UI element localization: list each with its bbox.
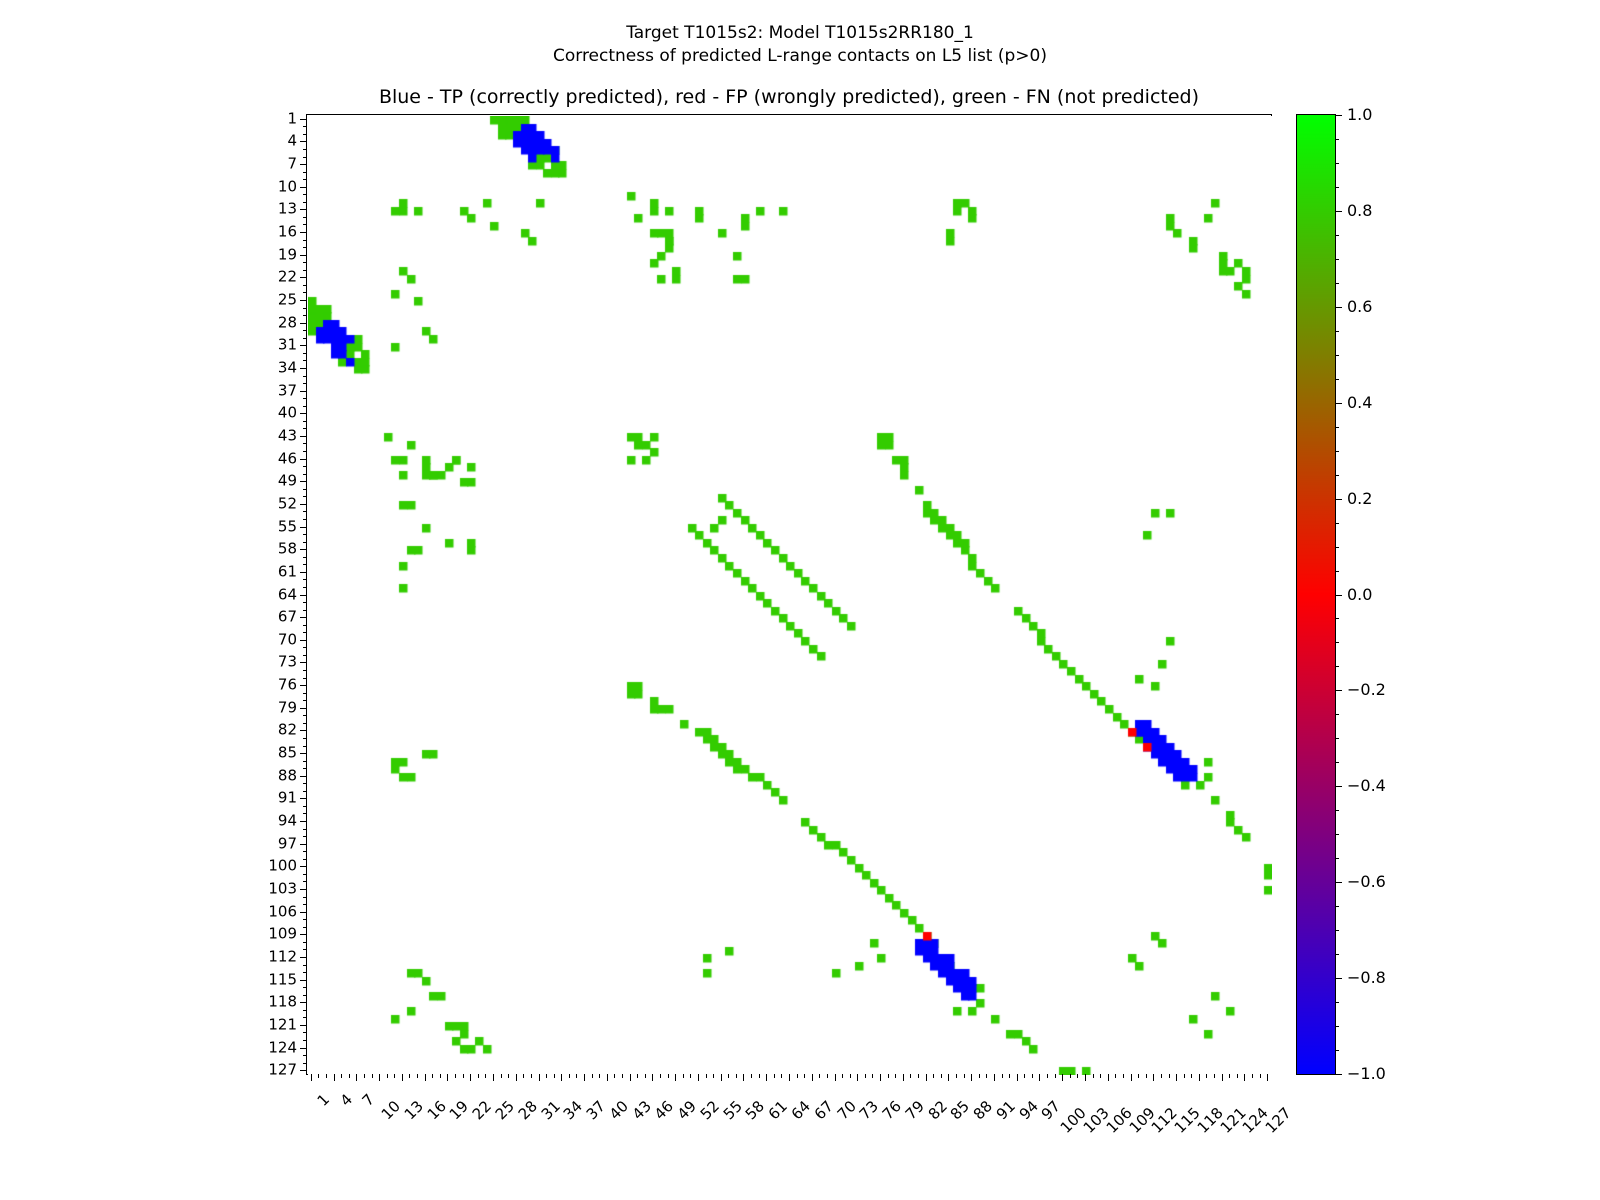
y-tick-label: 34 — [278, 360, 297, 375]
y-tick — [303, 859, 307, 860]
x-tick — [334, 1074, 335, 1081]
colorbar-tick-label: −1.0 — [1347, 1066, 1386, 1082]
y-tick — [303, 474, 307, 475]
y-tick-label: 64 — [278, 587, 297, 602]
y-tick-label: 88 — [278, 768, 297, 783]
y-tick — [303, 428, 307, 429]
x-tick — [372, 1074, 373, 1078]
y-tick-label: 16 — [278, 225, 297, 240]
y-tick — [303, 851, 307, 852]
x-tick — [1009, 1074, 1010, 1078]
x-tick — [569, 1074, 570, 1078]
colorbar-tick — [1335, 786, 1342, 787]
x-tick — [478, 1074, 479, 1078]
x-tick — [675, 1074, 676, 1081]
x-tick — [865, 1074, 866, 1078]
y-tick — [303, 647, 307, 648]
x-tick — [356, 1074, 357, 1081]
colorbar-tick — [1335, 690, 1342, 691]
y-tick — [300, 209, 307, 210]
x-tick — [660, 1074, 661, 1078]
x-tick-label: 79 — [903, 1099, 927, 1123]
y-tick — [303, 723, 307, 724]
y-tick — [303, 308, 307, 309]
y-tick-label: 127 — [268, 1063, 297, 1078]
y-tick — [303, 202, 307, 203]
x-tick — [630, 1074, 631, 1081]
colorbar-tick-label: 1.0 — [1347, 107, 1372, 123]
y-tick — [300, 753, 307, 754]
y-tick-label: 115 — [268, 972, 297, 987]
x-tick — [819, 1074, 820, 1078]
y-tick — [303, 126, 307, 127]
x-tick — [888, 1074, 889, 1078]
x-tick — [1191, 1074, 1192, 1078]
x-tick — [417, 1074, 418, 1078]
y-tick — [300, 1048, 307, 1049]
y-tick — [300, 798, 307, 799]
x-tick — [1024, 1074, 1025, 1078]
y-tick — [303, 542, 307, 543]
y-tick — [303, 655, 307, 656]
colorbar-tick-label: −0.8 — [1347, 970, 1386, 986]
y-tick — [303, 338, 307, 339]
x-tick — [409, 1074, 410, 1078]
x-tick — [1244, 1074, 1245, 1081]
x-tick — [698, 1074, 699, 1081]
y-tick — [303, 738, 307, 739]
colorbar-minor-tick — [1335, 523, 1339, 524]
x-tick — [797, 1074, 798, 1078]
x-tick — [850, 1074, 851, 1078]
x-tick — [645, 1074, 646, 1078]
colorbar-minor-tick — [1335, 834, 1339, 835]
y-tick — [300, 549, 307, 550]
colorbar-tick-label: −0.4 — [1347, 778, 1386, 794]
colorbar-minor-tick — [1335, 1026, 1339, 1027]
y-tick — [303, 149, 307, 150]
x-tick — [1206, 1074, 1207, 1078]
y-tick — [303, 376, 307, 377]
x-tick — [349, 1074, 350, 1078]
y-tick — [303, 874, 307, 875]
x-tick — [1169, 1074, 1170, 1078]
y-tick — [303, 564, 307, 565]
x-tick — [379, 1074, 380, 1081]
y-tick-label: 13 — [278, 202, 297, 217]
x-tick — [584, 1074, 585, 1081]
x-tick — [637, 1074, 638, 1078]
colorbar-tick — [1335, 882, 1342, 883]
y-tick — [300, 595, 307, 596]
x-tick — [1229, 1074, 1230, 1078]
x-tick — [1085, 1074, 1086, 1081]
y-tick — [303, 557, 307, 558]
x-tick — [994, 1074, 995, 1081]
colorbar[interactable]: 1.00.80.60.40.20.0−0.2−0.4−0.6−0.8−1.0 — [1296, 114, 1336, 1075]
colorbar-tick-label: 0.0 — [1347, 587, 1372, 603]
y-tick — [303, 904, 307, 905]
x-tick — [804, 1074, 805, 1078]
y-tick — [303, 240, 307, 241]
x-tick — [751, 1074, 752, 1078]
x-tick — [956, 1074, 957, 1078]
x-tick-label: 7 — [360, 1092, 377, 1109]
x-tick — [1252, 1074, 1253, 1078]
y-tick-label: 85 — [278, 746, 297, 761]
colorbar-minor-tick — [1335, 906, 1339, 907]
y-tick-label: 31 — [278, 338, 297, 353]
y-tick — [303, 610, 307, 611]
x-tick — [743, 1074, 744, 1081]
x-tick — [1108, 1074, 1109, 1081]
x-tick-label: 40 — [607, 1099, 631, 1123]
y-tick — [303, 360, 307, 361]
y-tick — [300, 459, 307, 460]
y-tick — [300, 1070, 307, 1071]
x-tick-label: 13 — [402, 1099, 426, 1123]
x-tick — [948, 1074, 949, 1081]
x-tick — [1017, 1074, 1018, 1081]
y-tick-label: 100 — [268, 859, 297, 874]
colorbar-minor-tick — [1335, 930, 1339, 931]
y-tick-label: 70 — [278, 632, 297, 647]
y-tick-label: 40 — [278, 406, 297, 421]
y-tick-label: 46 — [278, 451, 297, 466]
y-tick — [300, 232, 307, 233]
colorbar-minor-tick — [1335, 618, 1339, 619]
x-tick-label: 4 — [338, 1092, 355, 1109]
x-tick — [872, 1074, 873, 1078]
colorbar-minor-tick — [1335, 738, 1339, 739]
x-tick — [599, 1074, 600, 1078]
x-tick — [1070, 1074, 1071, 1078]
colorbar-minor-tick — [1335, 666, 1339, 667]
colorbar-tick — [1335, 595, 1342, 596]
y-tick — [303, 927, 307, 928]
x-tick — [387, 1074, 388, 1078]
x-tick — [1055, 1074, 1056, 1078]
y-tick — [300, 368, 307, 369]
y-tick — [303, 836, 307, 837]
x-tick — [1237, 1074, 1238, 1078]
y-tick-label: 58 — [278, 542, 297, 557]
y-tick — [300, 141, 307, 142]
y-tick — [303, 761, 307, 762]
x-tick-label: 91 — [994, 1099, 1018, 1123]
y-tick — [303, 625, 307, 626]
y-tick — [303, 829, 307, 830]
x-tick — [539, 1074, 540, 1081]
y-tick — [303, 315, 307, 316]
y-tick — [300, 527, 307, 528]
x-tick — [311, 1074, 312, 1081]
x-tick — [1123, 1074, 1124, 1078]
y-tick — [303, 949, 307, 950]
y-tick — [303, 693, 307, 694]
y-tick-label: 1 — [287, 111, 297, 126]
y-tick — [303, 511, 307, 512]
x-tick — [1138, 1074, 1139, 1078]
y-tick — [303, 972, 307, 973]
x-tick-label: 52 — [698, 1099, 722, 1123]
x-tick — [721, 1074, 722, 1081]
colorbar-minor-tick — [1335, 571, 1339, 572]
y-tick — [300, 934, 307, 935]
colorbar-tick-label: 0.6 — [1347, 299, 1372, 315]
y-tick — [303, 172, 307, 173]
x-tick — [933, 1074, 934, 1078]
y-tick — [303, 1017, 307, 1018]
y-tick — [300, 662, 307, 663]
x-tick — [508, 1074, 509, 1078]
y-tick — [303, 965, 307, 966]
x-tick — [759, 1074, 760, 1078]
y-tick — [303, 919, 307, 920]
y-tick-label: 55 — [278, 519, 297, 534]
colorbar-minor-tick — [1335, 283, 1339, 284]
y-tick-label: 67 — [278, 610, 297, 625]
y-tick-label: 52 — [278, 496, 297, 511]
x-tick-label: 127 — [1263, 1105, 1294, 1136]
y-tick — [303, 443, 307, 444]
y-tick-label: 10 — [278, 179, 297, 194]
x-tick — [979, 1074, 980, 1078]
y-tick — [303, 579, 307, 580]
x-tick — [425, 1074, 426, 1081]
x-tick — [364, 1074, 365, 1078]
y-tick-label: 79 — [278, 700, 297, 715]
y-tick-label: 124 — [268, 1040, 297, 1055]
x-tick-label: 64 — [789, 1099, 813, 1123]
x-tick — [326, 1074, 327, 1078]
x-tick — [652, 1074, 653, 1081]
y-tick — [300, 504, 307, 505]
y-tick — [300, 300, 307, 301]
contact-map-canvas[interactable] — [308, 116, 1272, 1075]
x-tick — [1032, 1074, 1033, 1078]
x-tick — [774, 1074, 775, 1078]
x-tick — [455, 1074, 456, 1078]
x-tick — [1222, 1074, 1223, 1081]
y-tick-label: 22 — [278, 270, 297, 285]
colorbar-minor-tick — [1335, 355, 1339, 356]
y-tick — [303, 715, 307, 716]
x-tick — [986, 1074, 987, 1078]
colorbar-tick — [1335, 115, 1342, 116]
y-tick — [303, 270, 307, 271]
y-tick — [303, 897, 307, 898]
x-tick — [903, 1074, 904, 1081]
y-tick — [303, 451, 307, 452]
y-tick — [300, 391, 307, 392]
x-tick — [447, 1074, 448, 1081]
y-tick — [300, 187, 307, 188]
x-tick — [432, 1074, 433, 1078]
y-tick — [303, 1040, 307, 1041]
x-tick — [531, 1074, 532, 1078]
colorbar-tick-label: 0.2 — [1347, 491, 1372, 507]
x-tick — [766, 1074, 767, 1081]
y-tick — [300, 957, 307, 958]
y-tick — [303, 587, 307, 588]
x-tick — [1161, 1074, 1162, 1078]
y-tick — [303, 134, 307, 135]
y-tick — [303, 534, 307, 535]
y-tick — [300, 1025, 307, 1026]
colorbar-minor-tick — [1335, 1002, 1339, 1003]
x-tick — [1062, 1074, 1063, 1081]
x-tick — [1146, 1074, 1147, 1078]
y-tick — [300, 844, 307, 845]
contact-map-plot[interactable]: 1471013161922252831343740434649525558616… — [306, 114, 1272, 1075]
x-tick — [683, 1074, 684, 1078]
x-tick — [918, 1074, 919, 1078]
y-tick-label: 19 — [278, 247, 297, 262]
colorbar-tick — [1335, 499, 1342, 500]
x-tick — [1093, 1074, 1094, 1078]
x-tick — [835, 1074, 836, 1081]
y-tick-label: 28 — [278, 315, 297, 330]
y-tick-label: 7 — [287, 157, 297, 172]
x-tick — [561, 1074, 562, 1081]
x-tick — [1077, 1074, 1078, 1078]
y-tick — [303, 383, 307, 384]
x-tick — [857, 1074, 858, 1081]
y-tick — [303, 995, 307, 996]
colorbar-minor-tick — [1335, 331, 1339, 332]
y-tick — [303, 1063, 307, 1064]
y-tick-label: 118 — [268, 995, 297, 1010]
colorbar-minor-tick — [1335, 259, 1339, 260]
colorbar-tick-label: −0.6 — [1347, 874, 1386, 890]
colorbar-minor-tick — [1335, 163, 1339, 164]
x-tick — [516, 1074, 517, 1081]
colorbar-minor-tick — [1335, 714, 1339, 715]
x-tick — [554, 1074, 555, 1078]
colorbar-tick-label: 0.8 — [1347, 203, 1372, 219]
colorbar-tick — [1335, 307, 1342, 308]
x-tick — [728, 1074, 729, 1078]
y-tick — [300, 730, 307, 731]
x-tick — [781, 1074, 782, 1078]
x-tick — [1214, 1074, 1215, 1078]
y-tick — [303, 783, 307, 784]
y-tick — [300, 164, 307, 165]
y-tick — [300, 481, 307, 482]
y-tick — [303, 519, 307, 520]
y-tick-label: 49 — [278, 474, 297, 489]
colorbar-tick — [1335, 403, 1342, 404]
y-tick — [303, 262, 307, 263]
x-tick — [576, 1074, 577, 1078]
x-tick — [964, 1074, 965, 1078]
x-tick — [1002, 1074, 1003, 1078]
x-tick — [463, 1074, 464, 1078]
x-tick — [1039, 1074, 1040, 1081]
y-tick-label: 91 — [278, 791, 297, 806]
y-tick — [303, 881, 307, 882]
y-tick — [303, 1010, 307, 1011]
colorbar-minor-tick — [1335, 187, 1339, 188]
y-tick-label: 109 — [268, 927, 297, 942]
x-tick — [493, 1074, 494, 1081]
x-tick — [440, 1074, 441, 1078]
colorbar-minor-tick — [1335, 475, 1339, 476]
y-tick — [303, 987, 307, 988]
colorbar-minor-tick — [1335, 810, 1339, 811]
y-tick — [303, 421, 307, 422]
x-tick — [470, 1074, 471, 1081]
x-tick — [592, 1074, 593, 1078]
y-tick — [303, 292, 307, 293]
y-tick — [300, 980, 307, 981]
y-tick — [303, 489, 307, 490]
y-tick — [303, 768, 307, 769]
x-tick — [341, 1074, 342, 1078]
x-tick — [485, 1074, 486, 1078]
colorbar-minor-tick — [1335, 547, 1339, 548]
y-tick — [303, 466, 307, 467]
x-tick — [941, 1074, 942, 1078]
y-tick — [300, 436, 307, 437]
y-tick — [303, 330, 307, 331]
y-tick — [300, 345, 307, 346]
x-tick — [1153, 1074, 1154, 1081]
x-tick — [546, 1074, 547, 1078]
y-tick — [300, 572, 307, 573]
x-tick — [1047, 1074, 1048, 1078]
y-tick — [300, 685, 307, 686]
x-tick — [622, 1074, 623, 1078]
y-tick-label: 97 — [278, 836, 297, 851]
y-tick — [303, 813, 307, 814]
x-tick — [842, 1074, 843, 1078]
x-tick — [895, 1074, 896, 1078]
x-tick-label: 37 — [584, 1099, 608, 1123]
y-tick-label: 94 — [278, 814, 297, 829]
y-tick-label: 25 — [278, 293, 297, 308]
x-tick — [926, 1074, 927, 1081]
y-tick — [303, 496, 307, 497]
y-tick — [300, 866, 307, 867]
y-tick-label: 61 — [278, 564, 297, 579]
y-tick — [300, 119, 307, 120]
figure-suptitle: Target T1015s2: Model T1015s2RR180_1 Cor… — [0, 22, 1600, 68]
y-tick — [300, 1002, 307, 1003]
x-tick — [789, 1074, 790, 1081]
colorbar-tick — [1335, 978, 1342, 979]
colorbar-tick — [1335, 211, 1342, 212]
x-tick-label: 67 — [812, 1099, 836, 1123]
y-tick — [300, 889, 307, 890]
colorbar-minor-tick — [1335, 427, 1339, 428]
x-tick — [1267, 1074, 1268, 1081]
colorbar-minor-tick — [1335, 451, 1339, 452]
y-tick — [303, 700, 307, 701]
x-tick — [668, 1074, 669, 1078]
colorbar-minor-tick — [1335, 139, 1339, 140]
y-tick — [300, 640, 307, 641]
x-tick — [318, 1074, 319, 1078]
x-tick — [402, 1074, 403, 1081]
y-tick — [303, 353, 307, 354]
x-tick — [1131, 1074, 1132, 1081]
colorbar-minor-tick — [1335, 235, 1339, 236]
colorbar-minor-tick — [1335, 642, 1339, 643]
y-tick-label: 73 — [278, 655, 297, 670]
y-tick-label: 82 — [278, 723, 297, 738]
